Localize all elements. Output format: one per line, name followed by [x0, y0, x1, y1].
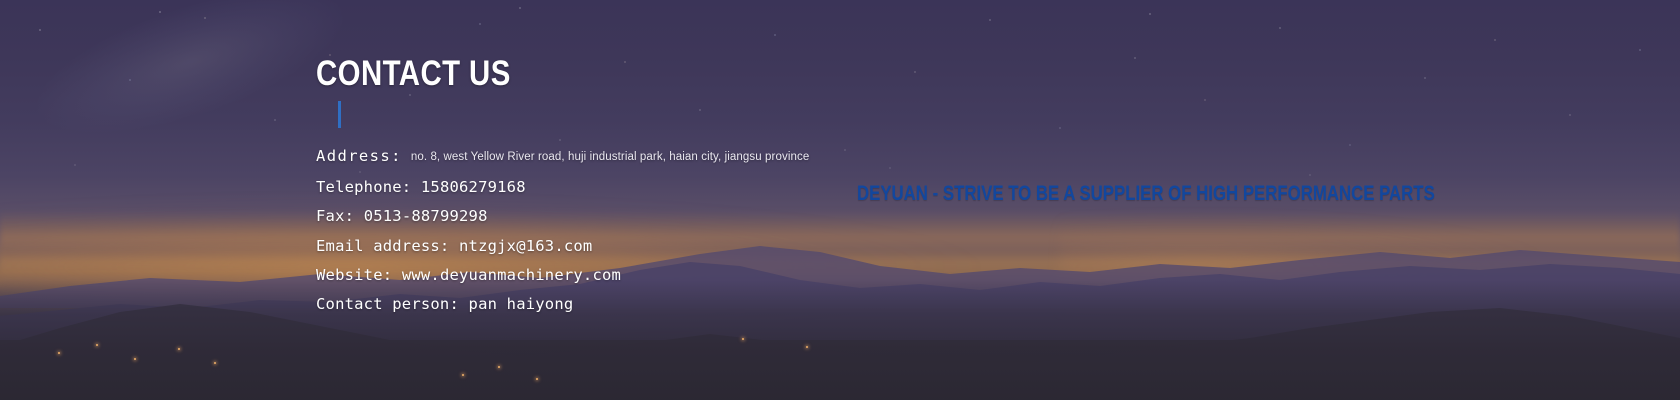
website-label: Website:	[316, 266, 392, 284]
address-label: Address:	[316, 147, 402, 165]
fax-value: 0513-88799298	[364, 207, 488, 225]
email-label: Email address:	[316, 237, 449, 255]
contact-line-telephone: Telephone: 15806279168	[316, 173, 809, 202]
contact-heading-block: CONTACT US	[316, 56, 548, 91]
email-value[interactable]: ntzgjx@163.com	[459, 237, 592, 255]
contact-line-fax: Fax: 0513-88799298	[316, 202, 809, 231]
address-value: no. 8, west Yellow River road, huji indu…	[402, 151, 809, 163]
contact-line-website: Website: www.deyuanmachinery.com	[316, 261, 809, 290]
company-tagline: DEYUAN - STRIVE TO BE A SUPPLIER OF HIGH…	[857, 183, 1435, 204]
contact-details-list: Address:no. 8, west Yellow River road, h…	[316, 142, 809, 319]
heading-accent-bar	[338, 101, 341, 128]
telephone-label: Telephone:	[316, 178, 411, 196]
page-title: CONTACT US	[316, 56, 511, 91]
contact-person-label: Contact person:	[316, 295, 459, 313]
website-link[interactable]: www.deyuanmachinery.com	[402, 266, 621, 284]
contact-line-email: Email address: ntzgjx@163.com	[316, 232, 809, 261]
contact-person-value: pan haiyong	[469, 295, 574, 313]
telephone-value[interactable]: 15806279168	[421, 178, 526, 196]
contact-line-person: Contact person: pan haiyong	[316, 290, 809, 319]
contact-line-address: Address:no. 8, west Yellow River road, h…	[316, 142, 809, 173]
contact-footer-banner: CONTACT US Address:no. 8, west Yellow Ri…	[0, 0, 1680, 400]
banner-content: CONTACT US Address:no. 8, west Yellow Ri…	[0, 0, 1680, 400]
fax-label: Fax:	[316, 207, 354, 225]
